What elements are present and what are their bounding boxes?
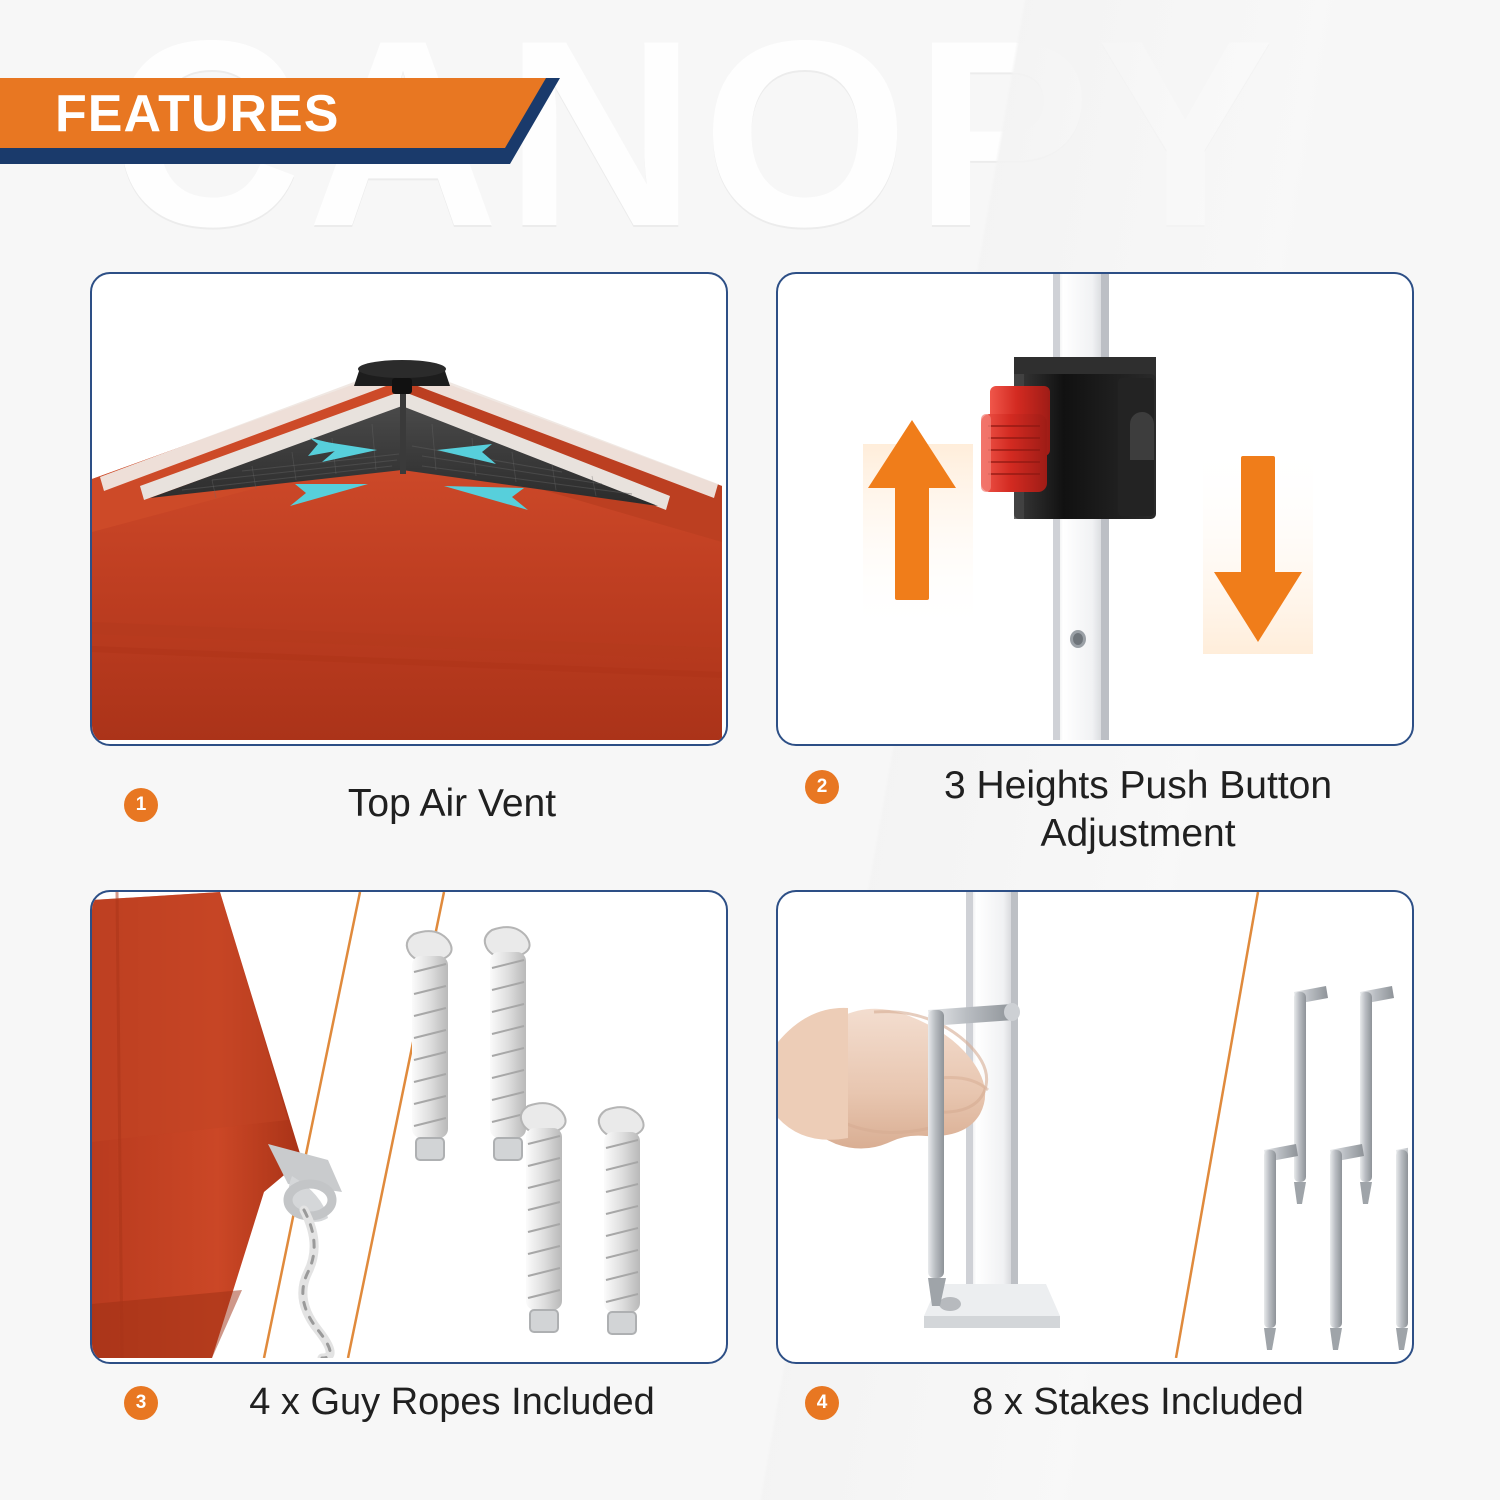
feature-label-4: 8 x Stakes Included — [861, 1378, 1415, 1426]
feature-label-3: 4 x Guy Ropes Included — [180, 1378, 724, 1426]
feature-number-badge-2: 2 — [805, 770, 839, 804]
feature-caption-4: 4 8 x Stakes Included — [805, 1378, 1415, 1426]
feature-image-panel-2 — [776, 272, 1414, 746]
stake-set — [1264, 986, 1408, 1350]
height-adjustment-illustration — [778, 274, 1408, 740]
page-title: FEATURES — [55, 86, 339, 142]
feature-image-panel-1 — [90, 272, 728, 746]
feature-number-badge-3: 3 — [124, 1386, 158, 1420]
feature-label-1: Top Air Vent — [180, 780, 724, 828]
feature-image-panel-3 — [90, 890, 728, 1364]
top-air-vent-illustration — [92, 274, 722, 740]
feature-number-badge-1: 1 — [124, 788, 158, 822]
guy-ropes-illustration — [92, 892, 722, 1358]
feature-caption-1: 1 Top Air Vent — [124, 780, 724, 828]
hand — [778, 1008, 988, 1149]
feature-number-badge-4: 4 — [805, 1386, 839, 1420]
feature-caption-3: 3 4 x Guy Ropes Included — [124, 1378, 724, 1426]
feature-caption-2: 2 3 Heights Push Button Adjustment — [805, 762, 1415, 858]
features-header-banner: FEATURES — [0, 78, 582, 164]
stakes-illustration — [778, 892, 1408, 1358]
feature-label-2: 3 Heights Push Button Adjustment — [861, 762, 1415, 858]
guy-rope-coil-group — [407, 927, 644, 1334]
feature-image-panel-4 — [776, 890, 1414, 1364]
